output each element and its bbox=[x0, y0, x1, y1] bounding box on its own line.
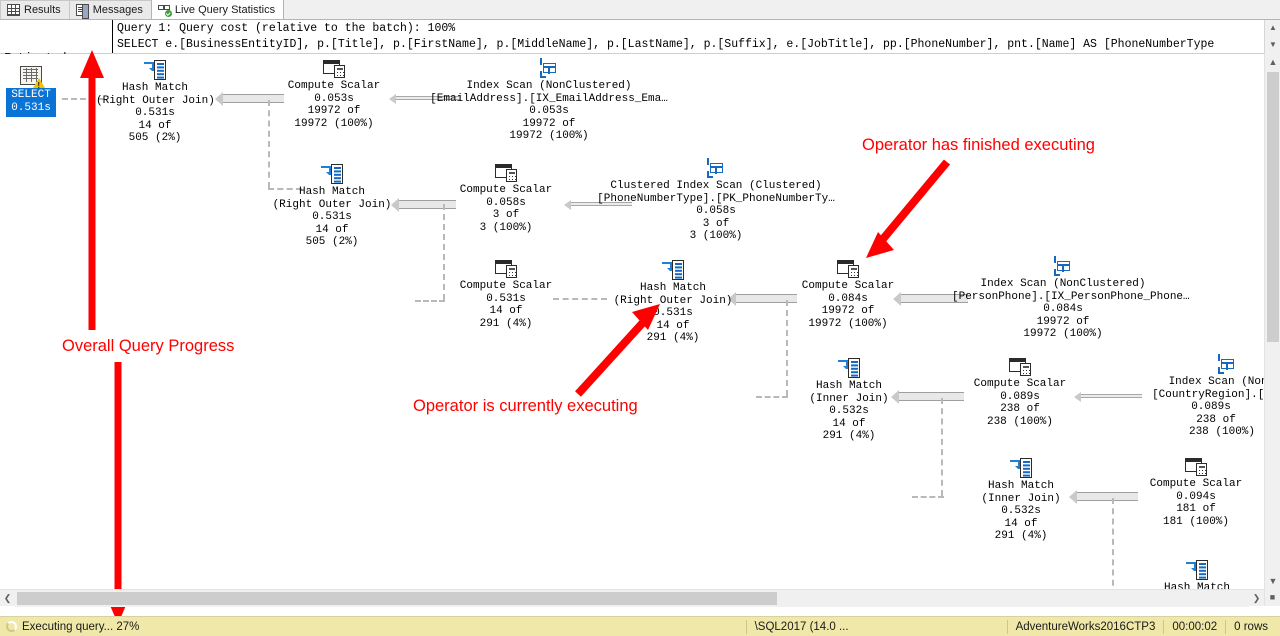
scroll-down-icon[interactable]: ▼ bbox=[1265, 573, 1280, 589]
arrow-down-to-statusbar bbox=[106, 362, 130, 624]
status-rows: 0 rows bbox=[1225, 620, 1280, 634]
status-executing: Executing query... 27% bbox=[0, 621, 139, 633]
live-query-statistics-window: Results Messages Live Query Statistics E… bbox=[0, 0, 1280, 636]
scroll-right-icon[interactable]: ❯ bbox=[1249, 590, 1264, 607]
scrollbar-corner-box[interactable]: ■ bbox=[1264, 589, 1280, 606]
arrow-to-executing-operator bbox=[578, 304, 660, 394]
horizontal-scroll-thumb[interactable] bbox=[17, 592, 777, 605]
canvas-horizontal-scrollbar[interactable]: ❮ ❯ bbox=[0, 589, 1264, 606]
canvas-vertical-scrollbar[interactable]: ▲ ▼ bbox=[1264, 54, 1280, 589]
arrow-to-finished-operator bbox=[866, 162, 947, 258]
status-elapsed: 00:00:02 bbox=[1163, 620, 1225, 634]
arrow-up-to-progress bbox=[80, 50, 104, 330]
scroll-up-icon[interactable]: ▲ bbox=[1265, 54, 1280, 70]
status-server: \SQL2017 (14.0 ... bbox=[746, 620, 857, 634]
annotation-arrows bbox=[0, 0, 1280, 636]
horizontal-scroll-track[interactable] bbox=[15, 590, 1249, 607]
vertical-scroll-thumb[interactable] bbox=[1267, 72, 1279, 342]
scroll-left-icon[interactable]: ❮ bbox=[0, 590, 15, 607]
status-database: AdventureWorks2016CTP3 bbox=[1007, 620, 1164, 634]
status-bar: Executing query... 27% \SQL2017 (14.0 ..… bbox=[0, 616, 1280, 636]
status-text: Executing query... 27% bbox=[22, 621, 139, 633]
progress-spinner-icon bbox=[6, 621, 17, 632]
